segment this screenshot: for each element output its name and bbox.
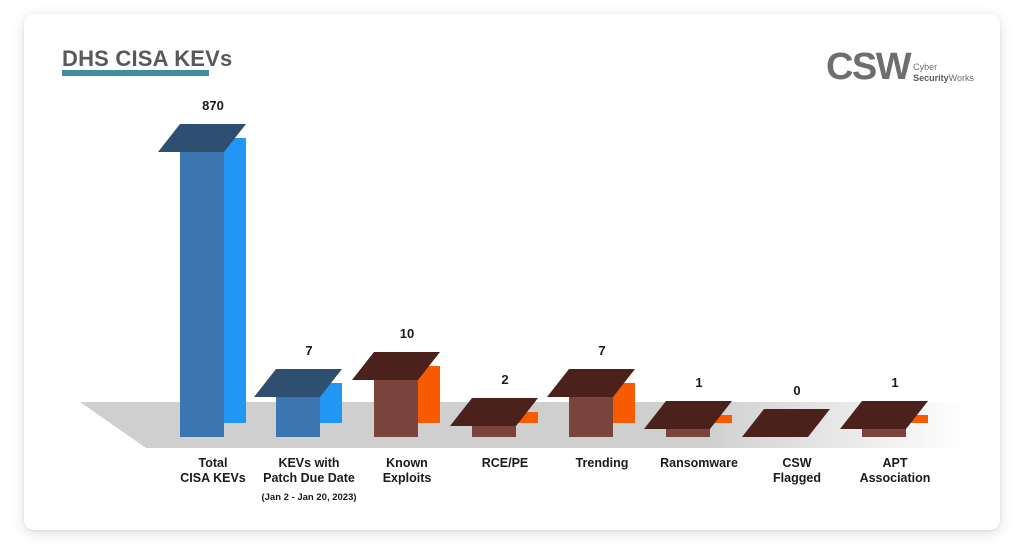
bar-face-top [840,401,928,431]
bar-value-label: 1 [842,375,948,390]
bar-value-label: 0 [744,383,850,398]
bar-value-label: 7 [256,343,362,358]
ground-plane [24,14,1000,530]
x-axis-label-8: APT Association [817,456,973,486]
bar-face-left [180,152,224,437]
bar-face-right [224,138,246,423]
bar-value-label: 10 [354,326,460,341]
bar-face-top [644,401,732,431]
bar-face-top [158,124,246,154]
chart-card: DHS CISA KEVs CSW Cyber SecurityWorks 87… [24,14,1000,530]
bar-face-top [742,409,830,439]
bar-face-top [450,398,538,428]
bar-value-label: 2 [452,372,558,387]
bar-value-label: 7 [549,343,655,358]
bar-face-top [254,369,342,399]
bar-value-label: 1 [646,375,752,390]
bar-chart-plot: 870Total CISA KEVs7KEVs with Patch Due D… [24,14,1000,530]
x-axis-sublabel: (Jan 2 - Jan 20, 2023) [231,492,387,503]
bar-face-top [352,352,440,382]
bar-value-label: 870 [160,98,266,113]
bar-face-left [569,397,613,437]
bar-face-left [276,397,320,437]
bar-face-top [547,369,635,399]
bar-face-left [374,380,418,437]
